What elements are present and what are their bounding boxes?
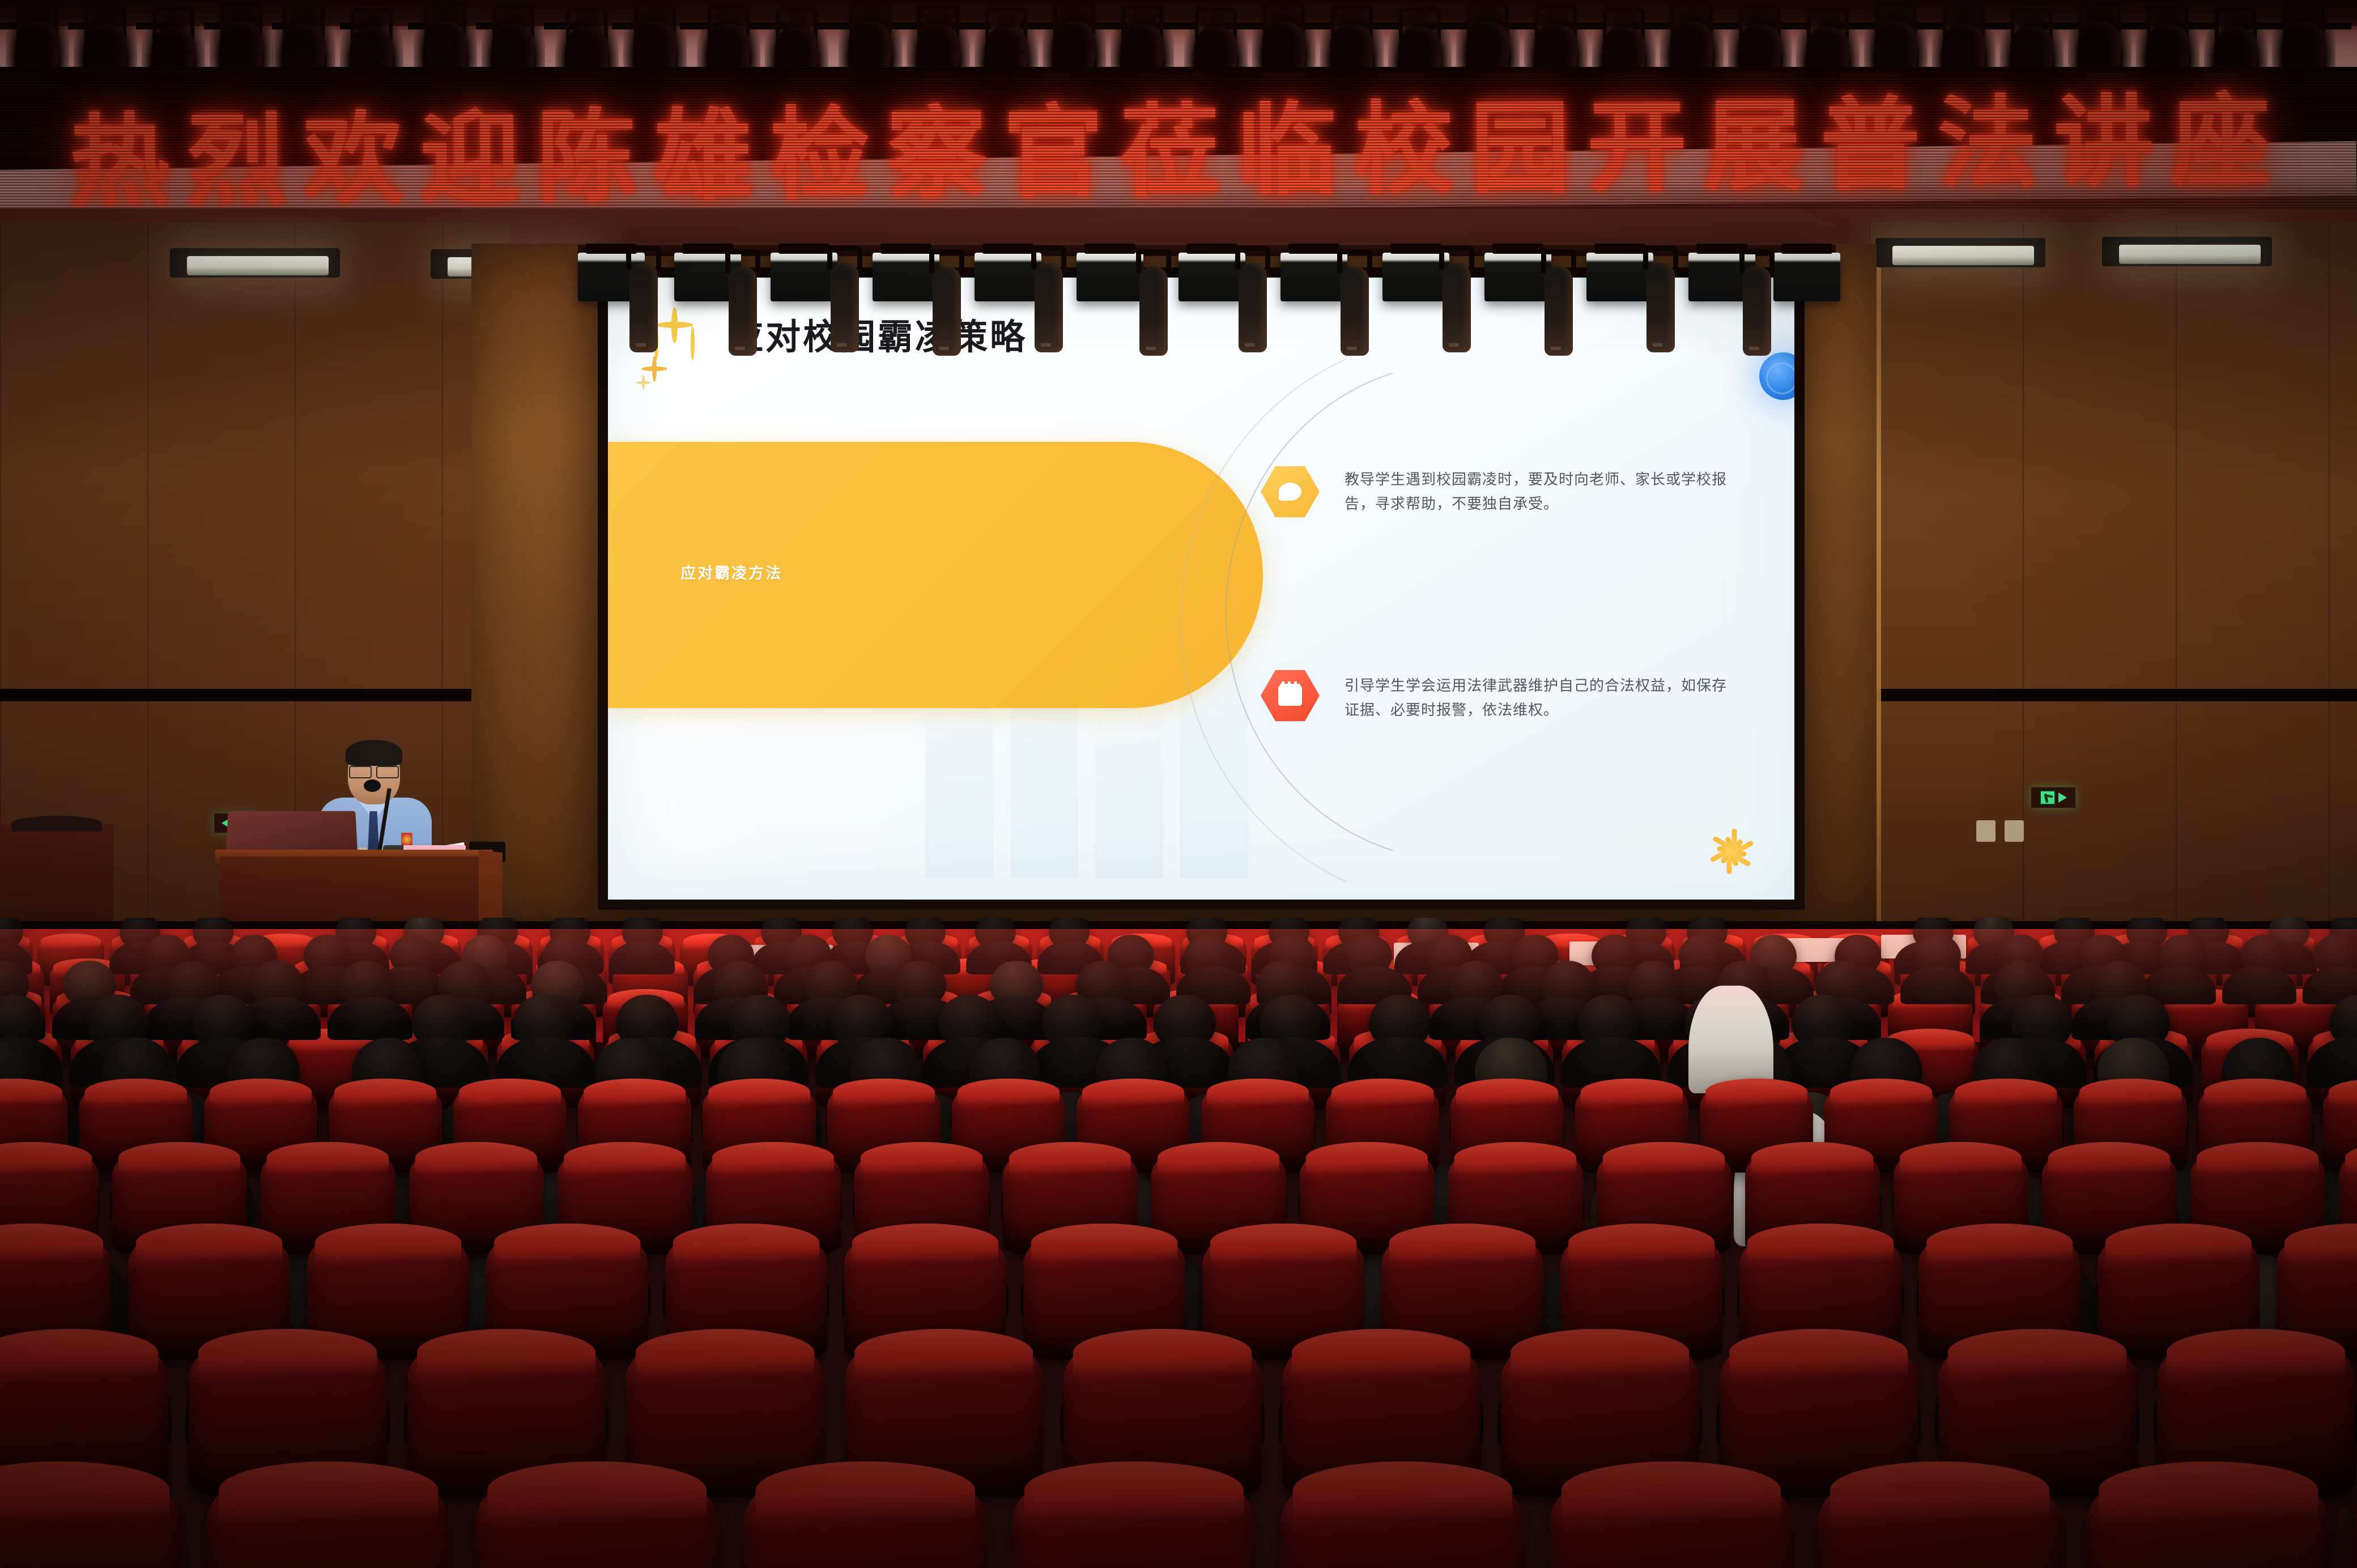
auditorium-seat[interactable] — [206, 1462, 450, 1568]
microphone-head-icon — [364, 779, 381, 792]
moving-head-light-fixture — [1643, 246, 1678, 353]
wall-socket-a[interactable] — [1976, 820, 1996, 842]
slide-yellow-pill-shape: 应对霸凌方法 — [608, 442, 1263, 708]
wash-light-fixture — [1773, 253, 1840, 301]
moving-head-light-fixture — [1337, 249, 1372, 357]
sunburst-icon — [1698, 818, 1760, 880]
auditorium-seat[interactable] — [2086, 1462, 2330, 1568]
exit-running-man-icon-right — [2040, 790, 2056, 805]
auditorium-seat[interactable] — [2355, 1462, 2357, 1568]
auditorium-seat[interactable] — [0, 1462, 181, 1568]
wall-trim-band-left — [0, 689, 513, 701]
ceiling-downlight-right-2 — [2119, 245, 2261, 264]
auditorium-seat[interactable] — [1012, 1462, 1256, 1568]
auditorium-seat[interactable] — [1549, 1462, 1793, 1568]
led-welcome-banner: 热烈欢迎陈雄检察官莅临校园开展普法讲座 — [0, 67, 2357, 208]
moving-head-light-fixture — [1136, 249, 1171, 357]
glasses-icon — [349, 766, 399, 776]
slide-bullet-2: 引导学生学会运用法律武器维护自己的合法权益，如保存证据、必要时报警，依法维权。 — [1345, 674, 1741, 723]
front-stage-light-bar — [578, 245, 1836, 364]
moving-head-light-fixture — [725, 249, 760, 357]
pill-label: 应对霸凌方法 — [680, 561, 782, 583]
auditorium-seat[interactable] — [1818, 1462, 2061, 1568]
moving-head-light-fixture — [1235, 246, 1270, 353]
auditorium-seat[interactable] — [1280, 1462, 1524, 1568]
exit-arrow-right-icon — [2058, 792, 2067, 803]
blue-ring-decoration-icon — [1766, 363, 1794, 394]
slide-bullet-1: 教导学生遇到校园霸凌时，要及时向老师、家长或学校报告，寻求帮助，不要独自承受。 — [1345, 468, 1741, 517]
moving-head-light-fixture — [626, 246, 661, 353]
auditorium-scene: 热烈欢迎陈雄检察官莅临校园开展普法讲座 应对校园霸凌策略 — [0, 0, 2357, 1568]
moving-head-light-fixture — [929, 249, 964, 357]
moving-head-light-fixture — [1541, 249, 1576, 357]
auditorium-seat[interactable] — [475, 1462, 718, 1568]
secondary-lectern-top — [11, 816, 102, 832]
audience-member-white-shirt — [1688, 986, 1773, 1093]
moving-head-light-fixture — [1439, 246, 1474, 353]
wood-panel-wall-right — [1870, 222, 2357, 941]
wall-socket-b[interactable] — [2005, 820, 2024, 842]
moving-head-light-fixture — [1739, 249, 1775, 357]
connector-arc-2 — [1180, 334, 1735, 900]
exit-sign-right — [2031, 787, 2075, 808]
speaker-emblem-badge — [401, 833, 412, 846]
ceiling-downlight-left — [187, 256, 329, 275]
moving-head-light-fixture — [1031, 246, 1066, 353]
projection-screen: 应对校园霸凌策略 应对霸凌方法 教导学生遇到校园霸凌时，要及时向老师、家长或学校… — [608, 278, 1794, 900]
ceiling-downlight-right — [1892, 246, 2034, 265]
auditorium-seat[interactable] — [743, 1462, 987, 1568]
wash-light-fixture — [1077, 253, 1143, 301]
wall-trim-band-right — [1867, 689, 2357, 701]
moving-head-light-fixture — [827, 246, 862, 353]
led-banner-text: 热烈欢迎陈雄检察官莅临校园开展普法讲座 — [0, 67, 2357, 208]
speaker-hair — [346, 740, 402, 766]
audience-seating — [0, 918, 2357, 1568]
